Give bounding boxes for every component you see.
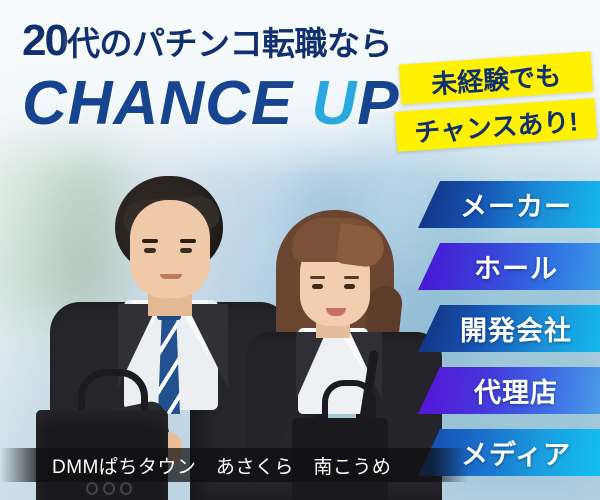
category-label: 代理店: [460, 371, 558, 410]
advertisement-banner: 20代のパチンコ転職なら CHANCE UP 未経験でも チャンスあり! メーカ…: [0, 0, 600, 500]
caption-text: DMMぱちタウン あさくら 南こうめ: [0, 452, 391, 479]
brand-logo: CHANCE UP: [22, 68, 400, 139]
category-button-maker[interactable]: メーカー: [418, 181, 600, 228]
category-button-agency[interactable]: 代理店: [418, 367, 600, 414]
category-label: メーカー: [446, 185, 572, 224]
logo-last-letter: P: [357, 69, 399, 138]
badge-label: 未経験でも: [430, 55, 562, 101]
category-label: 開発会社: [446, 309, 572, 348]
category-button-development-company[interactable]: 開発会社: [418, 305, 600, 352]
logo-main-text: CHANCE: [22, 69, 311, 138]
category-button-hall[interactable]: ホール: [418, 243, 600, 290]
caption-bar: DMMぱちタウン あさくら 南こうめ: [0, 448, 600, 482]
headline-number: 20: [22, 16, 67, 65]
logo-accent-letter: U: [311, 68, 357, 139]
category-label: ホール: [460, 247, 558, 286]
page-title: 20代のパチンコ転職なら: [22, 16, 392, 66]
headline-rest: 代のパチンコ転職なら: [67, 25, 392, 62]
